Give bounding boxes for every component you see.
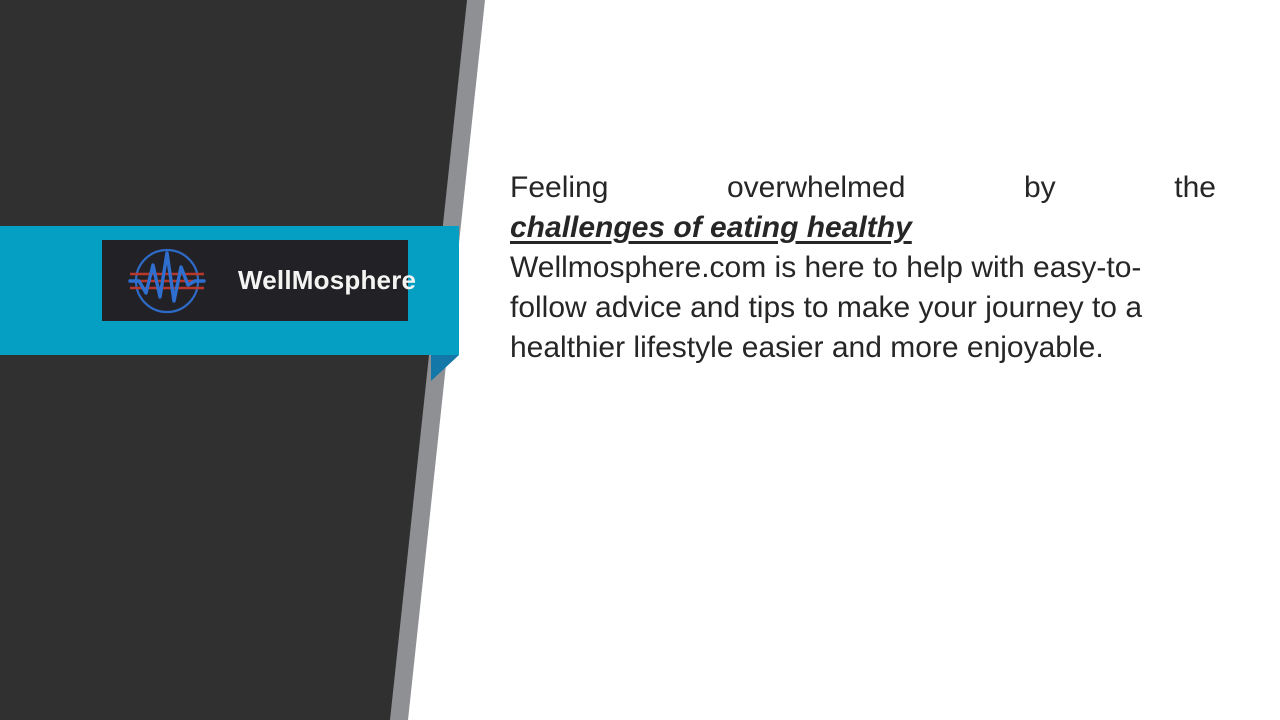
slide-body-copy: Feeling overwhelmed by the challenges of… <box>510 168 1216 368</box>
brand-logo-plate: WellMosphere <box>102 240 408 321</box>
dark-accent-wedge <box>0 0 500 720</box>
brand-wordmark: WellMosphere <box>238 265 416 296</box>
slide-canvas: WellMosphere Feeling overwhelmed by the … <box>0 0 1280 720</box>
copy-lead-line: Feeling overwhelmed by the <box>510 168 1216 208</box>
circular-waveform-icon <box>124 245 210 317</box>
copy-body-paragraph: Wellmosphere.com is here to help with ea… <box>510 248 1216 368</box>
copy-highlight-phrase: challenges of eating healthy <box>510 208 1216 248</box>
